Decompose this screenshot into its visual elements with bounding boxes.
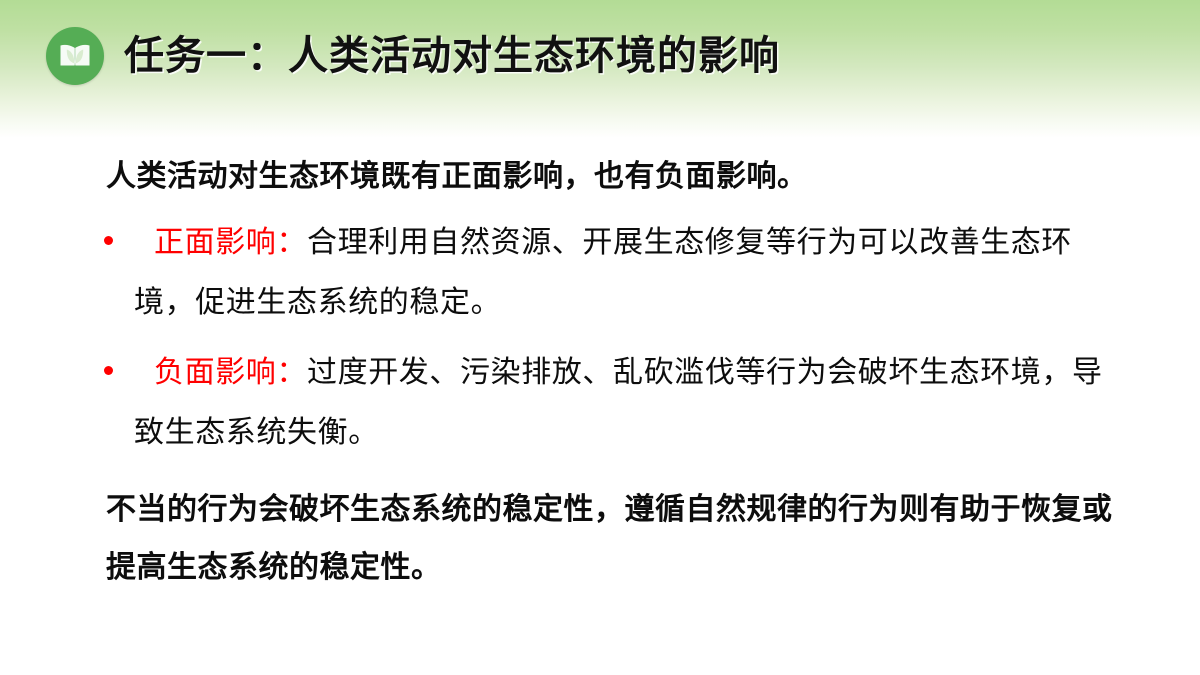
open-book-leaf-icon xyxy=(46,27,104,85)
tail-paragraph: 不当的行为会破坏生态系统的稳定性，遵循自然规律的行为则有助于恢复或提高生态系统的… xyxy=(106,481,1136,597)
bullet-label-positive: 正面影响： xyxy=(154,226,307,259)
page-title: 任务一：人类活动对生态环境的影响 xyxy=(124,34,780,78)
bullet-dot-icon xyxy=(104,236,113,245)
body-content: 人类活动对生态环境既有正面影响，也有负面影响。 正面影响：合理利用自然资源、开展… xyxy=(0,145,1200,675)
bullet-text: 正面影响：合理利用自然资源、开展生态修复等行为可以改善生态环境，促进生态系统的稳… xyxy=(134,213,1126,333)
bullet-label-negative: 负面影响： xyxy=(154,356,307,389)
header-row: 任务一：人类活动对生态环境的影响 xyxy=(46,20,780,92)
slide-root: 任务一：人类活动对生态环境的影响 人类活动对生态环境既有正面影响，也有负面影响。… xyxy=(0,0,1200,675)
bullet-list: 正面影响：合理利用自然资源、开展生态修复等行为可以改善生态环境，促进生态系统的稳… xyxy=(96,213,1126,473)
list-item: 负面影响：过度开发、污染排放、乱砍滥伐等行为会破坏生态环境，导致生态系统失衡。 xyxy=(96,343,1126,463)
list-item: 正面影响：合理利用自然资源、开展生态修复等行为可以改善生态环境，促进生态系统的稳… xyxy=(96,213,1126,333)
lead-paragraph: 人类活动对生态环境既有正面影响，也有负面影响。 xyxy=(106,158,1116,196)
bullet-text: 负面影响：过度开发、污染排放、乱砍滥伐等行为会破坏生态环境，导致生态系统失衡。 xyxy=(134,343,1126,463)
bullet-dot-icon xyxy=(104,366,113,375)
